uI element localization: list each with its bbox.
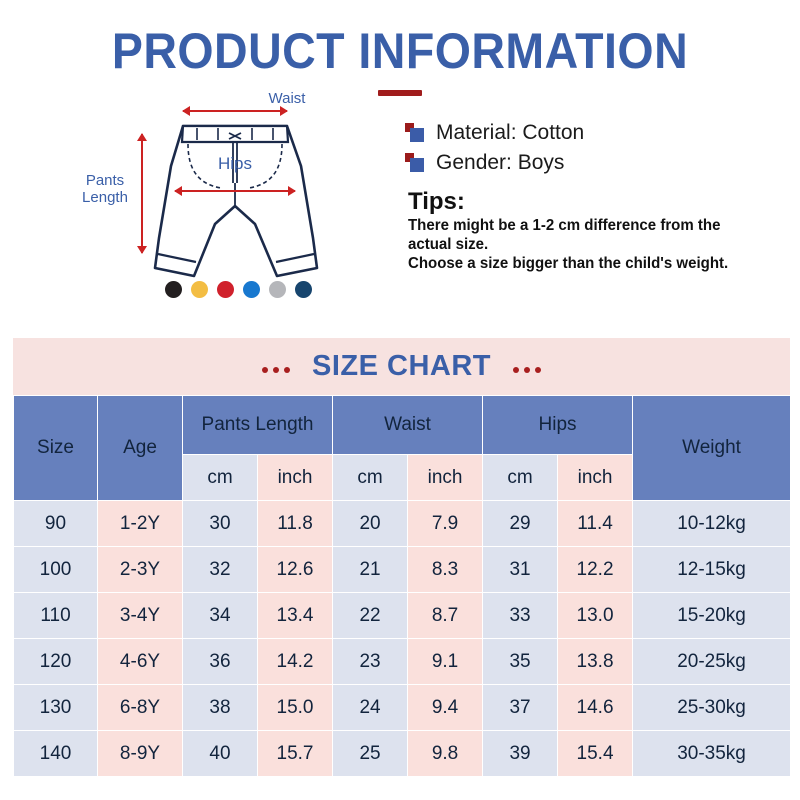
cell-length-inch: 15.0 xyxy=(258,685,333,731)
cell-hips-inch: 14.6 xyxy=(558,685,633,731)
attribute-gender: Gender: Boys xyxy=(405,148,785,178)
cell-length-inch: 14.2 xyxy=(258,639,333,685)
cell-length-cm: 38 xyxy=(183,685,258,731)
table-row: 1002-3Y3212.6218.33112.212-15kg xyxy=(14,547,791,593)
cell-waist-cm: 25 xyxy=(333,731,408,777)
cell-waist-inch: 8.3 xyxy=(408,547,483,593)
cell-size: 120 xyxy=(14,639,98,685)
cell-hips-inch: 12.2 xyxy=(558,547,633,593)
cell-length-cm: 40 xyxy=(183,731,258,777)
cell-waist-cm: 20 xyxy=(333,501,408,547)
color-swatch-list xyxy=(165,281,312,298)
cell-waist-inch: 9.1 xyxy=(408,639,483,685)
waist-label: Waist xyxy=(207,90,367,107)
tips-line: actual size. xyxy=(408,235,774,254)
cell-weight: 15-20kg xyxy=(633,593,791,639)
cell-hips-cm: 37 xyxy=(483,685,558,731)
product-attributes: Material: Cotton Gender: Boys Tips: Ther… xyxy=(405,118,785,273)
col-header-hips: Hips xyxy=(483,396,633,455)
page-title: PRODUCT INFORMATION xyxy=(28,26,772,76)
cell-age: 3-4Y xyxy=(98,593,183,639)
unit-cell-hips-cm: cm xyxy=(483,455,558,501)
cell-length-cm: 30 xyxy=(183,501,258,547)
cell-waist-cm: 21 xyxy=(333,547,408,593)
banner-dots-left-icon xyxy=(262,361,290,373)
unit-cell-length-inch: inch xyxy=(258,455,333,501)
cell-waist-cm: 24 xyxy=(333,685,408,731)
cell-hips-cm: 29 xyxy=(483,501,558,547)
size-chart-section: SIZE CHART Size Age Pants Length Waist H… xyxy=(13,338,790,777)
col-header-waist: Waist xyxy=(333,396,483,455)
unit-cell-hips-inch: inch xyxy=(558,455,633,501)
swatch-gray[interactable] xyxy=(269,281,286,298)
pants-length-label-line1: Pants xyxy=(86,172,124,189)
cell-length-inch: 15.7 xyxy=(258,731,333,777)
cell-length-inch: 11.8 xyxy=(258,501,333,547)
cell-weight: 25-30kg xyxy=(633,685,791,731)
cell-hips-inch: 11.4 xyxy=(558,501,633,547)
cell-hips-cm: 35 xyxy=(483,639,558,685)
cell-hips-inch: 13.8 xyxy=(558,639,633,685)
product-diagram: Waist Hips Pants Length xyxy=(55,88,375,318)
size-chart-title: SIZE CHART xyxy=(312,350,491,383)
cell-length-cm: 34 xyxy=(183,593,258,639)
size-chart-head: Size Age Pants Length Waist Hips Weight … xyxy=(14,396,791,501)
cell-waist-inch: 9.4 xyxy=(408,685,483,731)
attribute-material-label: Material: Cotton xyxy=(436,121,584,145)
cell-weight: 20-25kg xyxy=(633,639,791,685)
cell-hips-cm: 31 xyxy=(483,547,558,593)
col-header-weight: Weight xyxy=(633,396,791,501)
pants-length-label: Pants Length xyxy=(59,172,151,206)
cell-length-inch: 12.6 xyxy=(258,547,333,593)
cell-age: 4-6Y xyxy=(98,639,183,685)
product-overview-section: Waist Hips Pants Length Material: Cotton… xyxy=(0,96,800,316)
cell-waist-inch: 9.8 xyxy=(408,731,483,777)
cell-size: 140 xyxy=(14,731,98,777)
cell-size: 90 xyxy=(14,501,98,547)
cell-age: 6-8Y xyxy=(98,685,183,731)
swatch-blue[interactable] xyxy=(243,281,260,298)
group-header-row: Size Age Pants Length Waist Hips Weight xyxy=(14,396,791,455)
cell-weight: 10-12kg xyxy=(633,501,791,547)
tips-line: There might be a 1-2 cm difference from … xyxy=(408,216,774,235)
cell-length-cm: 32 xyxy=(183,547,258,593)
unit-cell-waist-cm: cm xyxy=(333,455,408,501)
cell-size: 130 xyxy=(14,685,98,731)
cell-weight: 30-35kg xyxy=(633,731,791,777)
cell-weight: 12-15kg xyxy=(633,547,791,593)
swatch-yellow[interactable] xyxy=(191,281,208,298)
unit-cell-waist-inch: inch xyxy=(408,455,483,501)
hips-label: Hips xyxy=(175,154,295,174)
table-row: 1204-6Y3614.2239.13513.820-25kg xyxy=(14,639,791,685)
waist-measure-arrow xyxy=(182,106,288,116)
col-header-pants-length: Pants Length xyxy=(183,396,333,455)
size-chart-table: Size Age Pants Length Waist Hips Weight … xyxy=(13,395,791,777)
size-chart-banner: SIZE CHART xyxy=(13,338,790,395)
cell-size: 110 xyxy=(14,593,98,639)
pants-length-label-line2: Length xyxy=(82,189,128,206)
cell-hips-inch: 15.4 xyxy=(558,731,633,777)
swatch-navy[interactable] xyxy=(295,281,312,298)
cell-waist-inch: 7.9 xyxy=(408,501,483,547)
table-row: 1103-4Y3413.4228.73313.015-20kg xyxy=(14,593,791,639)
cell-hips-cm: 33 xyxy=(483,593,558,639)
tips-line: Choose a size bigger than the child's we… xyxy=(408,254,774,273)
swatch-black[interactable] xyxy=(165,281,182,298)
tips-heading: Tips: xyxy=(408,188,785,216)
table-row: 1408-9Y4015.7259.83915.430-35kg xyxy=(14,731,791,777)
bullet-square-icon xyxy=(405,123,427,143)
attribute-gender-label: Gender: Boys xyxy=(436,151,564,175)
size-chart-body: 901-2Y3011.8207.92911.410-12kg1002-3Y321… xyxy=(14,501,791,777)
cell-length-inch: 13.4 xyxy=(258,593,333,639)
banner-dots-right-icon xyxy=(513,361,541,373)
swatch-red[interactable] xyxy=(217,281,234,298)
table-row: 901-2Y3011.8207.92911.410-12kg xyxy=(14,501,791,547)
cell-age: 1-2Y xyxy=(98,501,183,547)
bullet-square-icon xyxy=(405,153,427,173)
table-row: 1306-8Y3815.0249.43714.625-30kg xyxy=(14,685,791,731)
attribute-material: Material: Cotton xyxy=(405,118,785,148)
cell-length-cm: 36 xyxy=(183,639,258,685)
cell-age: 2-3Y xyxy=(98,547,183,593)
cell-hips-inch: 13.0 xyxy=(558,593,633,639)
cell-waist-inch: 8.7 xyxy=(408,593,483,639)
col-header-age: Age xyxy=(98,396,183,501)
title-block: PRODUCT INFORMATION xyxy=(0,0,800,96)
unit-cell-length-cm: cm xyxy=(183,455,258,501)
cell-age: 8-9Y xyxy=(98,731,183,777)
cell-size: 100 xyxy=(14,547,98,593)
cell-waist-cm: 23 xyxy=(333,639,408,685)
cell-hips-cm: 39 xyxy=(483,731,558,777)
col-header-size: Size xyxy=(14,396,98,501)
cell-waist-cm: 22 xyxy=(333,593,408,639)
